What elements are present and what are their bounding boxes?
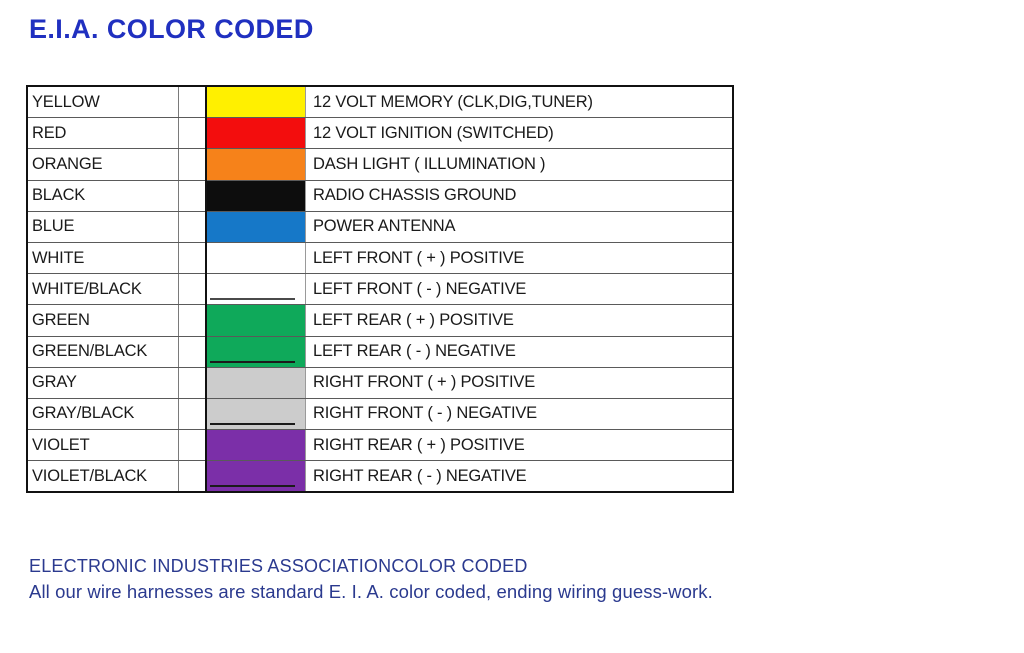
- wire-name-cell: VIOLET/BLACK: [27, 461, 179, 493]
- wire-color-code-table-body: YELLOW12 VOLT MEMORY (CLK,DIG,TUNER)RED1…: [27, 86, 733, 492]
- wire-color-swatch: [207, 149, 305, 179]
- wire-function-label: RADIO CHASSIS GROUND: [306, 186, 732, 205]
- wire-name-label: ORANGE: [28, 155, 178, 174]
- table-row: WHITE/BLACKLEFT FRONT ( - ) NEGATIVE: [27, 274, 733, 305]
- spacer-cell: [179, 242, 207, 273]
- wire-function-cell: RIGHT FRONT ( - ) NEGATIVE: [306, 398, 734, 429]
- wire-name-label: GRAY/BLACK: [28, 404, 178, 423]
- table-row: BLACKRADIO CHASSIS GROUND: [27, 180, 733, 211]
- wire-name-cell: GREEN/BLACK: [27, 336, 179, 367]
- wire-name-label: WHITE/BLACK: [28, 280, 178, 299]
- wire-name-cell: BLUE: [27, 211, 179, 242]
- wire-name-cell: YELLOW: [27, 86, 179, 118]
- wire-color-code-table: YELLOW12 VOLT MEMORY (CLK,DIG,TUNER)RED1…: [26, 85, 734, 493]
- table-row: BLUEPOWER ANTENNA: [27, 211, 733, 242]
- table-row: GRAY/BLACKRIGHT FRONT ( - ) NEGATIVE: [27, 398, 733, 429]
- wire-function-cell: RIGHT REAR ( - ) NEGATIVE: [306, 461, 734, 493]
- wire-function-cell: POWER ANTENNA: [306, 211, 734, 242]
- wire-color-swatch: [207, 305, 305, 335]
- wire-function-cell: 12 VOLT MEMORY (CLK,DIG,TUNER): [306, 86, 734, 118]
- wire-color-swatch-cell: [206, 305, 306, 336]
- wire-name-label: GREEN: [28, 311, 178, 330]
- wire-name-cell: RED: [27, 118, 179, 149]
- wire-function-label: DASH LIGHT ( ILLUMINATION ): [306, 155, 732, 174]
- wire-color-swatch-cell: [206, 274, 306, 305]
- table-row: GREENLEFT REAR ( + ) POSITIVE: [27, 305, 733, 336]
- wire-color-swatch-cell: [206, 430, 306, 461]
- wire-function-cell: LEFT FRONT ( - ) NEGATIVE: [306, 274, 734, 305]
- wire-color-swatch: [207, 399, 305, 429]
- footer-tagline: All our wire harnesses are standard E. I…: [29, 581, 1009, 603]
- spacer-cell: [179, 180, 207, 211]
- wire-color-swatch: [207, 87, 305, 117]
- black-tracer-stripe: [210, 423, 295, 425]
- spacer-cell: [179, 430, 207, 461]
- wire-color-swatch-cell: [206, 398, 306, 429]
- spacer-cell: [179, 336, 207, 367]
- table-row: RED12 VOLT IGNITION (SWITCHED): [27, 118, 733, 149]
- wire-color-swatch: [207, 337, 305, 367]
- wire-color-swatch: [207, 212, 305, 242]
- wire-color-swatch-cell: [206, 211, 306, 242]
- table-row: VIOLET/BLACKRIGHT REAR ( - ) NEGATIVE: [27, 461, 733, 493]
- wire-name-cell: WHITE: [27, 242, 179, 273]
- wire-name-label: WHITE: [28, 249, 178, 268]
- wire-function-label: RIGHT REAR ( - ) NEGATIVE: [306, 467, 732, 486]
- wire-name-label: BLUE: [28, 217, 178, 236]
- wire-function-label: RIGHT FRONT ( - ) NEGATIVE: [306, 404, 732, 423]
- spacer-cell: [179, 305, 207, 336]
- wire-name-cell: GREEN: [27, 305, 179, 336]
- spacer-cell: [179, 461, 207, 493]
- page-title: E.I.A. COLOR CODED: [29, 14, 314, 45]
- wire-name-label: YELLOW: [28, 93, 178, 112]
- wire-function-cell: RIGHT REAR ( + ) POSITIVE: [306, 430, 734, 461]
- wire-function-label: LEFT FRONT ( + ) POSITIVE: [306, 249, 732, 268]
- wire-function-label: POWER ANTENNA: [306, 217, 732, 236]
- wire-name-label: VIOLET: [28, 436, 178, 455]
- wire-function-cell: DASH LIGHT ( ILLUMINATION ): [306, 149, 734, 180]
- wire-name-label: RED: [28, 124, 178, 143]
- spacer-cell: [179, 274, 207, 305]
- wire-function-label: RIGHT FRONT ( + ) POSITIVE: [306, 373, 732, 392]
- wire-color-swatch-cell: [206, 118, 306, 149]
- wire-color-swatch-cell: [206, 242, 306, 273]
- wire-name-cell: BLACK: [27, 180, 179, 211]
- spacer-cell: [179, 367, 207, 398]
- spacer-cell: [179, 118, 207, 149]
- wire-name-cell: WHITE/BLACK: [27, 274, 179, 305]
- wire-color-swatch-cell: [206, 336, 306, 367]
- table-row: YELLOW12 VOLT MEMORY (CLK,DIG,TUNER): [27, 86, 733, 118]
- wire-color-swatch: [207, 118, 305, 148]
- wire-name-cell: GRAY: [27, 367, 179, 398]
- wire-function-cell: LEFT FRONT ( + ) POSITIVE: [306, 242, 734, 273]
- wire-function-cell: LEFT REAR ( - ) NEGATIVE: [306, 336, 734, 367]
- wire-name-label: VIOLET/BLACK: [28, 467, 178, 486]
- wire-function-label: LEFT REAR ( - ) NEGATIVE: [306, 342, 732, 361]
- spacer-cell: [179, 211, 207, 242]
- spacer-cell: [179, 398, 207, 429]
- wire-name-cell: VIOLET: [27, 430, 179, 461]
- wire-name-label: GREEN/BLACK: [28, 342, 178, 361]
- table-row: ORANGEDASH LIGHT ( ILLUMINATION ): [27, 149, 733, 180]
- wire-color-swatch: [207, 274, 305, 304]
- wire-color-swatch-cell: [206, 461, 306, 493]
- wire-name-cell: GRAY/BLACK: [27, 398, 179, 429]
- table-row: GRAYRIGHT FRONT ( + ) POSITIVE: [27, 367, 733, 398]
- table-row: GREEN/BLACKLEFT REAR ( - ) NEGATIVE: [27, 336, 733, 367]
- wire-color-swatch-cell: [206, 367, 306, 398]
- wire-function-cell: RIGHT FRONT ( + ) POSITIVE: [306, 367, 734, 398]
- wire-color-swatch-cell: [206, 180, 306, 211]
- wire-function-label: LEFT FRONT ( - ) NEGATIVE: [306, 280, 732, 299]
- spacer-cell: [179, 86, 207, 118]
- wire-function-label: 12 VOLT MEMORY (CLK,DIG,TUNER): [306, 93, 732, 112]
- wire-function-label: 12 VOLT IGNITION (SWITCHED): [306, 124, 732, 143]
- wire-function-label: LEFT REAR ( + ) POSITIVE: [306, 311, 732, 330]
- wire-color-swatch: [207, 430, 305, 460]
- spacer-cell: [179, 149, 207, 180]
- wire-function-cell: 12 VOLT IGNITION (SWITCHED): [306, 118, 734, 149]
- wire-function-cell: LEFT REAR ( + ) POSITIVE: [306, 305, 734, 336]
- wire-color-swatch: [207, 243, 305, 273]
- black-tracer-stripe: [210, 298, 295, 300]
- footer: ELECTRONIC INDUSTRIES ASSOCIATIONCOLOR C…: [29, 556, 1009, 603]
- wire-color-swatch: [207, 461, 305, 491]
- black-tracer-stripe: [210, 485, 295, 487]
- table-row: VIOLETRIGHT REAR ( + ) POSITIVE: [27, 430, 733, 461]
- wire-color-swatch-cell: [206, 149, 306, 180]
- wire-color-swatch: [207, 181, 305, 211]
- wire-name-cell: ORANGE: [27, 149, 179, 180]
- wire-name-label: GRAY: [28, 373, 178, 392]
- wire-color-swatch-cell: [206, 86, 306, 118]
- wire-color-swatch: [207, 368, 305, 398]
- footer-association-line: ELECTRONIC INDUSTRIES ASSOCIATIONCOLOR C…: [29, 556, 1009, 577]
- wire-name-label: BLACK: [28, 186, 178, 205]
- wire-function-label: RIGHT REAR ( + ) POSITIVE: [306, 436, 732, 455]
- table-row: WHITELEFT FRONT ( + ) POSITIVE: [27, 242, 733, 273]
- black-tracer-stripe: [210, 361, 295, 363]
- wire-function-cell: RADIO CHASSIS GROUND: [306, 180, 734, 211]
